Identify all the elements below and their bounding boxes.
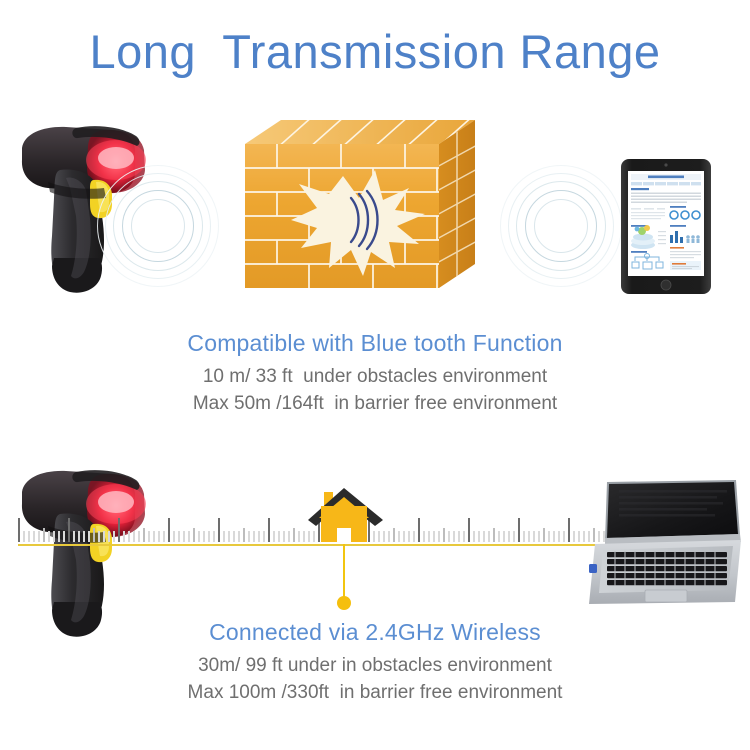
- ruler-tick: [188, 531, 190, 542]
- ruler-tick: [143, 528, 145, 542]
- ruler-tick: [508, 531, 510, 542]
- ruler-tick: [283, 531, 285, 542]
- house-marker-icon: [305, 486, 395, 611]
- bluetooth-caption: Compatible with Blue tooth Function 10 m…: [0, 330, 750, 418]
- signal-ring: [131, 199, 185, 253]
- ruler-tick: [123, 531, 125, 542]
- ruler-tick: [138, 531, 140, 542]
- ruler-tick: [408, 531, 410, 542]
- ruler-tick: [538, 531, 540, 542]
- ruler-tick: [513, 531, 515, 542]
- ruler-tick: [463, 531, 465, 542]
- ruler-tick: [498, 531, 500, 542]
- ruler-tick: [158, 531, 160, 542]
- signal-waves-icon: [100, 168, 216, 284]
- ruler-tick: [458, 531, 460, 542]
- ruler-tick: [153, 531, 155, 542]
- ruler-tick: [203, 531, 205, 542]
- ruler-tick: [403, 531, 405, 542]
- barcode-scanner-icon: [8, 452, 178, 647]
- ruler-tick: [253, 531, 255, 542]
- ruler-tick: [278, 531, 280, 542]
- ruler-tick: [493, 528, 495, 542]
- ruler-tick: [63, 531, 65, 542]
- ruler-tick: [483, 531, 485, 542]
- ruler-tick: [218, 518, 220, 542]
- ruler-tick: [108, 531, 110, 542]
- ruler-tick: [243, 528, 245, 542]
- ruler-tick: [523, 531, 525, 542]
- ruler-tick: [288, 531, 290, 542]
- ruler-tick: [468, 518, 470, 542]
- ruler-tick: [198, 531, 200, 542]
- signal-ring: [534, 199, 588, 253]
- ruler-tick: [563, 531, 565, 542]
- bluetooth-headline: Compatible with Blue tooth Function: [0, 330, 750, 357]
- ruler-tick: [223, 531, 225, 542]
- ruler-tick: [238, 531, 240, 542]
- ruler-tick: [173, 531, 175, 542]
- ruler-tick: [78, 531, 80, 542]
- tablet-device-icon: [615, 157, 720, 302]
- ruler-tick: [163, 531, 165, 542]
- ruler-tick: [58, 531, 60, 542]
- ruler-tick: [208, 531, 210, 542]
- ruler-tick: [443, 528, 445, 542]
- ruler-tick: [43, 528, 45, 542]
- ruler-tick: [28, 531, 30, 542]
- ruler-tick: [528, 531, 530, 542]
- wireless-caption: Connected via 2.4GHz Wireless 30m/ 99 ft…: [0, 619, 750, 707]
- ruler-tick: [413, 531, 415, 542]
- ruler-tick: [488, 531, 490, 542]
- ruler-tick: [38, 531, 40, 542]
- ruler-tick: [193, 528, 195, 542]
- ruler-tick: [118, 518, 120, 542]
- ruler-tick: [568, 518, 570, 542]
- wireless-line-2: Max 100m /330ft in barrier free environm…: [0, 680, 750, 707]
- ruler-tick: [213, 531, 215, 542]
- ruler-tick: [533, 531, 535, 542]
- ruler-tick: [233, 531, 235, 542]
- ruler-tick: [418, 518, 420, 542]
- ruler-tick: [478, 531, 480, 542]
- ruler-tick: [168, 518, 170, 542]
- ruler-tick: [453, 531, 455, 542]
- ruler-tick: [33, 531, 35, 542]
- ruler-tick: [518, 518, 520, 542]
- house-pin-dot: [337, 596, 351, 610]
- wireless-headline: Connected via 2.4GHz Wireless: [0, 619, 750, 646]
- ruler-tick: [263, 531, 265, 542]
- ruler-tick: [553, 531, 555, 542]
- ruler-tick: [73, 531, 75, 542]
- bluetooth-line-1: 10 m/ 33 ft under obstacles environment: [0, 364, 750, 391]
- wireless-line-1: 30m/ 99 ft under in obstacles environmen…: [0, 653, 750, 680]
- ruler-tick: [148, 531, 150, 542]
- ruler-tick: [248, 531, 250, 542]
- ruler-tick: [98, 531, 100, 542]
- ruler-tick: [48, 531, 50, 542]
- ruler-tick: [423, 531, 425, 542]
- ruler-tick: [258, 531, 260, 542]
- ruler-tick: [298, 531, 300, 542]
- ruler-tick: [433, 531, 435, 542]
- ruler-tick: [228, 531, 230, 542]
- ruler-tick: [68, 518, 70, 542]
- ruler-tick: [428, 531, 430, 542]
- ruler-tick: [18, 518, 20, 542]
- ruler-tick: [88, 531, 90, 542]
- house-pin-line: [343, 544, 345, 600]
- ruler-tick: [273, 531, 275, 542]
- page-title: Long Transmission Range: [0, 24, 750, 79]
- ruler-tick: [53, 531, 55, 542]
- ruler-tick: [128, 531, 130, 542]
- ruler-tick: [573, 531, 575, 542]
- ruler-tick: [183, 531, 185, 542]
- laptop-device-icon: [583, 478, 743, 618]
- ruler-tick: [548, 531, 550, 542]
- bluetooth-line-2: Max 50m /164ft in barrier free environme…: [0, 391, 750, 418]
- ruler-tick: [83, 531, 85, 542]
- ruler-tick: [543, 528, 545, 542]
- ruler-tick: [293, 528, 295, 542]
- ruler-tick: [23, 531, 25, 542]
- ruler-tick: [113, 531, 115, 542]
- ruler-tick: [103, 531, 105, 542]
- ruler-tick: [558, 531, 560, 542]
- ruler-tick: [578, 531, 580, 542]
- ruler-tick: [268, 518, 270, 542]
- ruler-tick: [448, 531, 450, 542]
- brick-wall-icon: [243, 118, 498, 303]
- ruler-tick: [438, 531, 440, 542]
- ruler-tick: [398, 531, 400, 542]
- signal-waves-icon: [503, 168, 619, 284]
- ruler-tick: [178, 531, 180, 542]
- ruler-tick: [503, 531, 505, 542]
- ruler-tick: [133, 531, 135, 542]
- ruler-tick: [93, 528, 95, 542]
- ruler-tick: [473, 531, 475, 542]
